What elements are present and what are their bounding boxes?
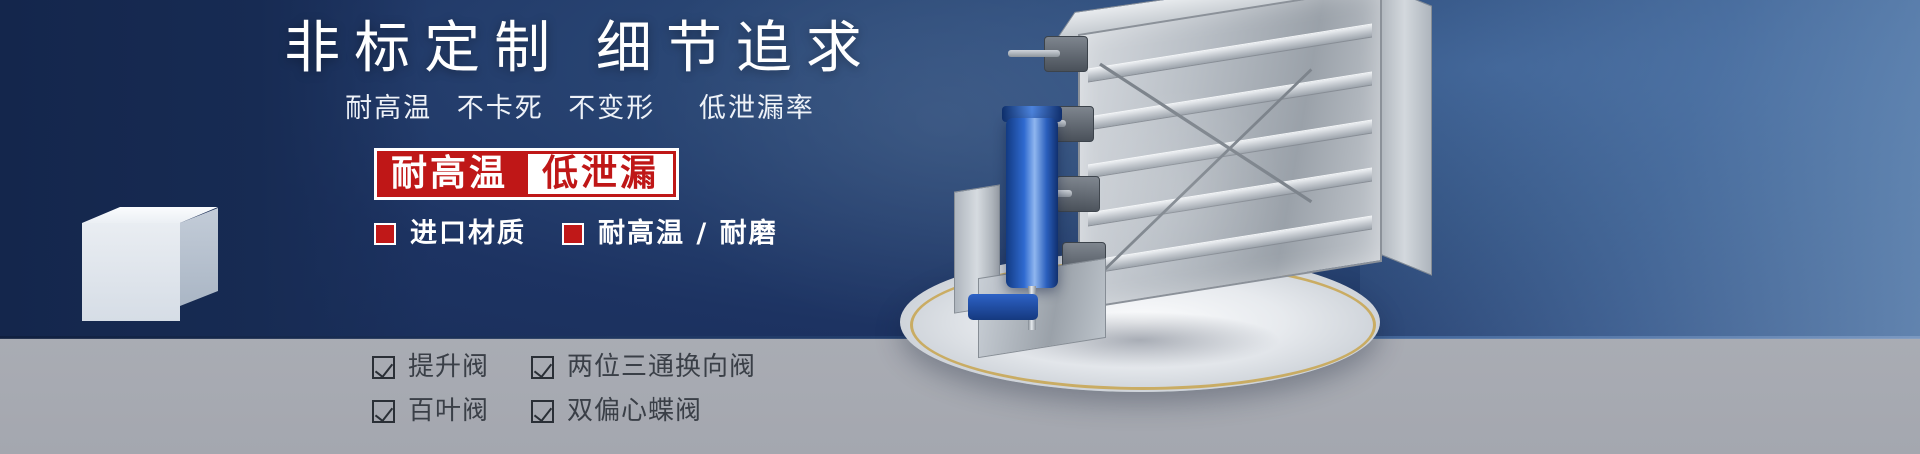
- red-square-icon: [562, 223, 584, 245]
- subtitle-item-2: 不变形: [568, 93, 655, 124]
- feature-bullet-label: 耐高温 / 耐磨: [598, 218, 778, 250]
- page-title: 非标定制 细节追求: [0, 18, 1000, 80]
- damper-linkage-arm: [1008, 50, 1060, 57]
- feature-bullet-label: 进口材质: [410, 218, 526, 250]
- product-image: [880, 0, 1920, 454]
- badge-right-label: 低泄漏: [528, 154, 673, 194]
- damper-x-bracing: [1100, 21, 1360, 272]
- checklist-item: 提升阀: [372, 352, 489, 382]
- checkbox-checked-icon: [372, 356, 395, 379]
- checkbox-checked-icon: [531, 400, 554, 423]
- red-square-icon: [374, 223, 396, 245]
- subtitle-item-1: 不卡死: [457, 93, 544, 124]
- damper-valve-assembly: [1078, 10, 1438, 310]
- badge-left-label: 耐高温: [377, 151, 522, 197]
- pneumatic-actuator: [984, 118, 1104, 348]
- checklist-label: 两位三通换向阀: [567, 352, 756, 382]
- feature-bullet-list: 进口材质 耐高温 / 耐磨: [374, 218, 778, 250]
- checklist-label: 百叶阀: [408, 396, 489, 426]
- status-badge: 耐高温 低泄漏: [374, 148, 679, 200]
- subtitle: 耐高温 不卡死 不变形 低泄漏率: [0, 92, 1000, 126]
- checklist-item: 两位三通换向阀: [531, 352, 756, 382]
- banner-text-block: 非标定制 细节追求 耐高温 不卡死 不变形 低泄漏率 耐高温 低泄漏 进口材质 …: [0, 0, 1000, 454]
- checklist-label: 双偏心蝶阀: [567, 396, 702, 426]
- promo-banner: 非标定制 细节追求 耐高温 不卡死 不变形 低泄漏率 耐高温 低泄漏 进口材质 …: [0, 0, 1920, 454]
- checklist-item: 百叶阀: [372, 396, 489, 426]
- product-checklist: 提升阀 两位三通换向阀 百叶阀 双偏心蝶阀: [372, 352, 756, 426]
- feature-bullet-item: 耐高温 / 耐磨: [562, 218, 778, 250]
- feature-bullet-item: 进口材质: [374, 218, 526, 250]
- checklist-label: 提升阀: [408, 352, 489, 382]
- checkbox-checked-icon: [531, 356, 554, 379]
- actuator-cylinder: [1006, 118, 1058, 288]
- checkbox-checked-icon: [372, 400, 395, 423]
- checklist-item: 双偏心蝶阀: [531, 396, 756, 426]
- damper-frame: [1078, 0, 1382, 310]
- subtitle-item-3: 低泄漏率: [699, 93, 815, 124]
- subtitle-item-0: 耐高温: [345, 93, 432, 124]
